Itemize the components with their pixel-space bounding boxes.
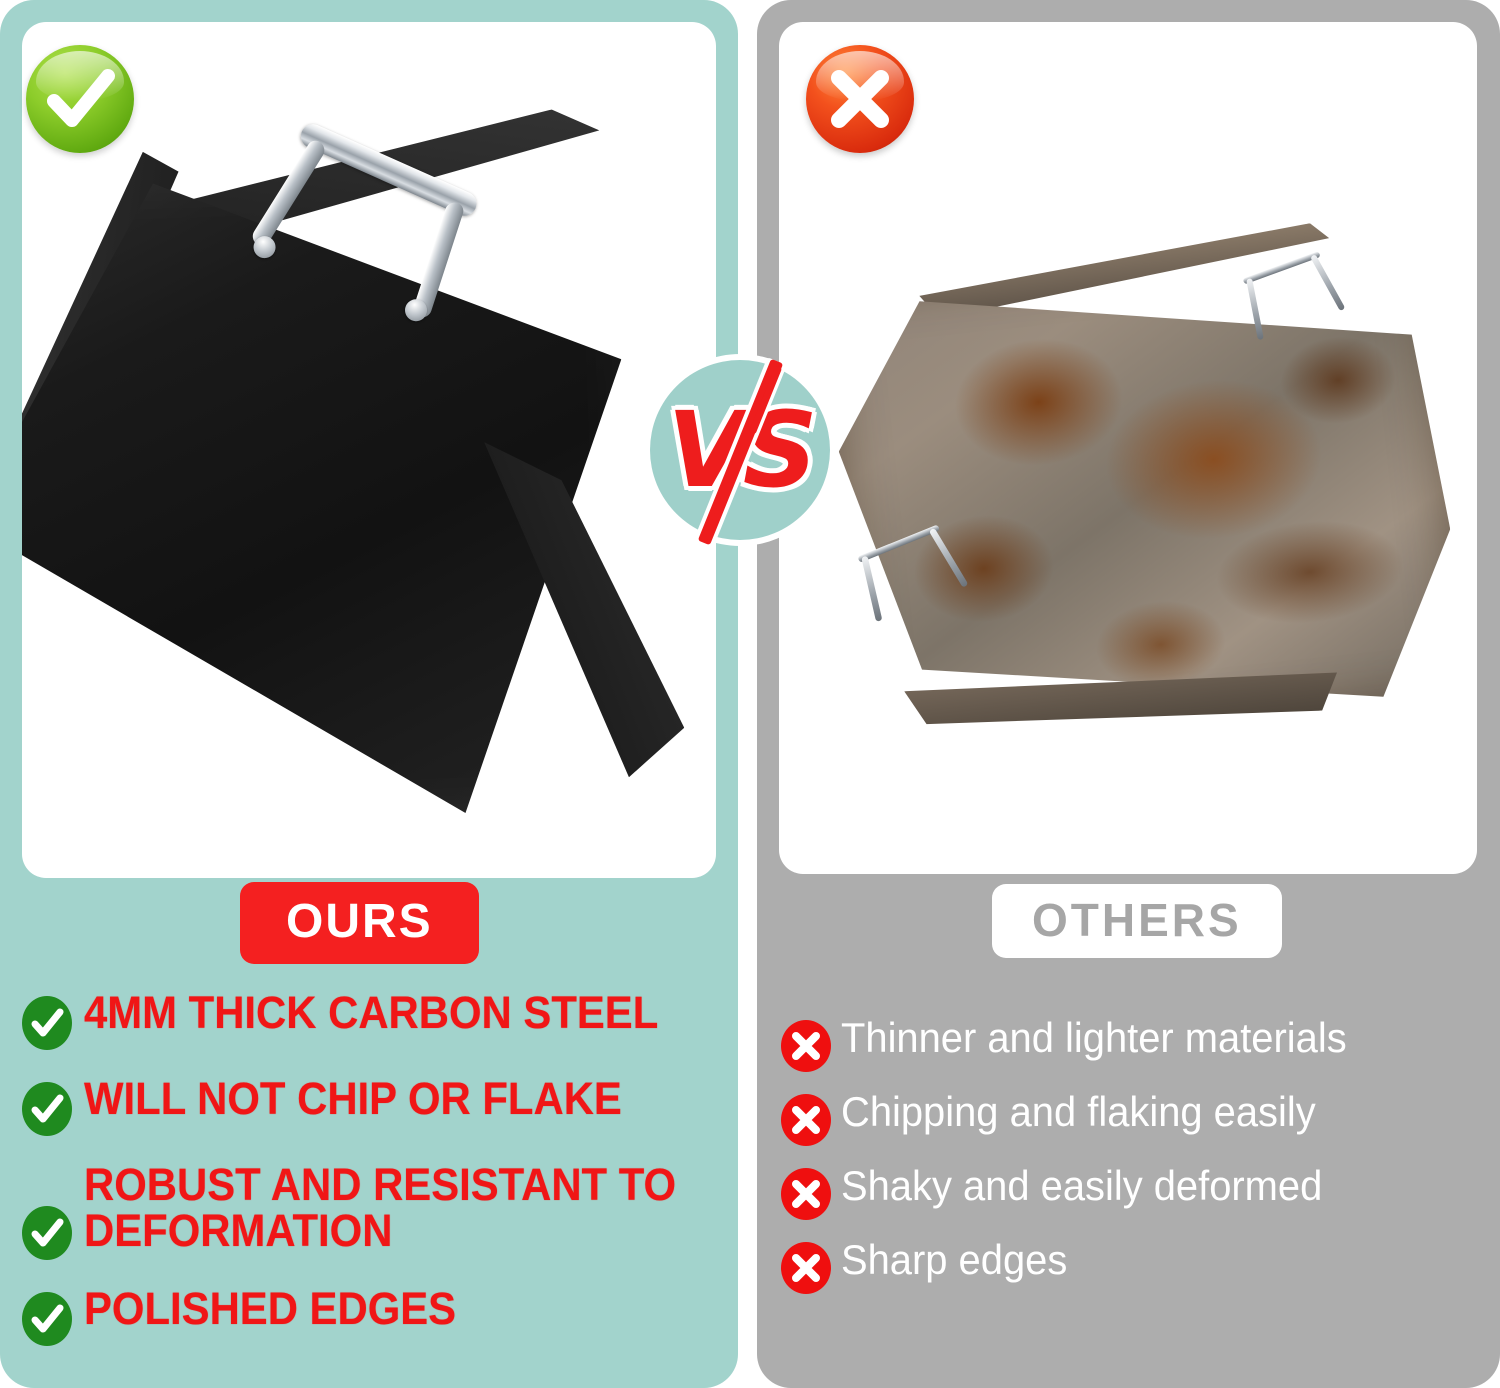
cross-circle-icon (781, 1020, 831, 1072)
others-panel: OTHERS Thinner and lighter materials Chi… (757, 0, 1500, 1388)
others-title-badge: OTHERS (992, 884, 1282, 958)
others-feature-list: Thinner and lighter materials Chipping a… (757, 1016, 1500, 1294)
list-item: 4MM THICK CARBON STEEL (14, 990, 722, 1050)
ours-panel: OURS 4MM THICK CARBON STEEL WILL NOT CHI… (0, 0, 738, 1388)
list-item-label: Chipping and flaking easily (841, 1090, 1316, 1134)
ours-content: OURS 4MM THICK CARBON STEEL WILL NOT CHI… (0, 882, 738, 1372)
check-circle-icon (22, 1206, 72, 1260)
check-circle-icon (22, 996, 72, 1050)
list-item: Sharp edges (771, 1238, 1484, 1294)
list-item-label: WILL NOT CHIP OR FLAKE (84, 1076, 622, 1122)
red-cross-circle-icon (806, 45, 914, 153)
others-content: OTHERS Thinner and lighter materials Chi… (757, 884, 1500, 1312)
list-item-label: POLISHED EDGES (84, 1286, 456, 1332)
vs-emblem: VS (650, 360, 830, 540)
cross-circle-icon (781, 1168, 831, 1220)
list-item-label: Shaky and easily deformed (841, 1164, 1322, 1208)
cross-circle-icon (781, 1242, 831, 1294)
black-griddle-illustration (22, 106, 679, 878)
rusty-griddle-illustration (822, 230, 1468, 760)
check-circle-icon (22, 1292, 72, 1346)
list-item-label: 4MM THICK CARBON STEEL (84, 990, 658, 1036)
list-item: ROBUST AND RESISTANT TO DEFORMATION (14, 1162, 722, 1260)
list-item: POLISHED EDGES (14, 1286, 722, 1346)
list-item: Shaky and easily deformed (771, 1164, 1484, 1220)
comparison-infographic: OURS 4MM THICK CARBON STEEL WILL NOT CHI… (0, 0, 1500, 1388)
list-item: WILL NOT CHIP OR FLAKE (14, 1076, 722, 1136)
cross-circle-icon (781, 1094, 831, 1146)
ours-title-badge: OURS (240, 882, 479, 964)
list-item-label: Sharp edges (841, 1238, 1067, 1282)
green-check-circle-icon (26, 45, 134, 153)
check-circle-icon (22, 1082, 72, 1136)
list-item-label: ROBUST AND RESISTANT TO DEFORMATION (84, 1162, 677, 1254)
ours-feature-list: 4MM THICK CARBON STEEL WILL NOT CHIP OR … (0, 990, 738, 1346)
list-item: Chipping and flaking easily (771, 1090, 1484, 1146)
list-item: Thinner and lighter materials (771, 1016, 1484, 1072)
list-item-label: Thinner and lighter materials (841, 1016, 1347, 1060)
